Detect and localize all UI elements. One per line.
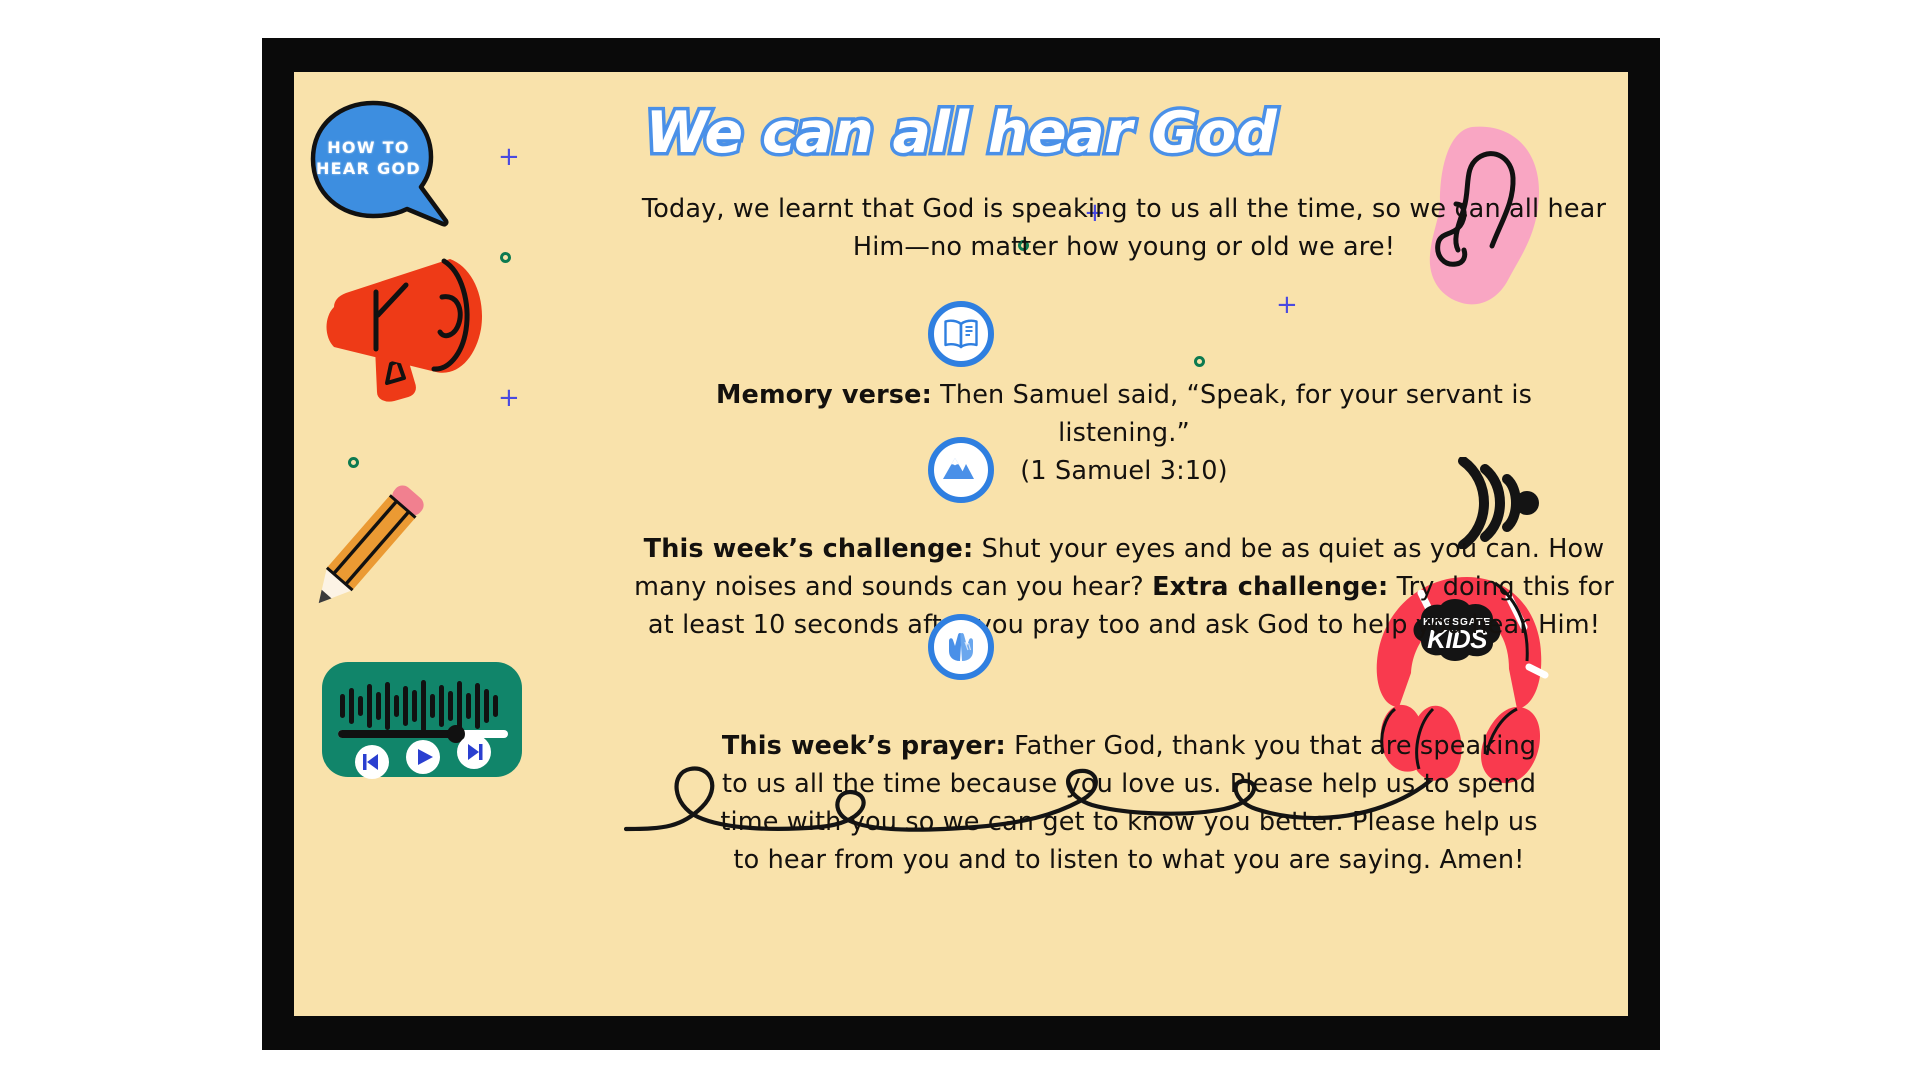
rewind-button[interactable] [355, 745, 389, 779]
forward-button[interactable] [457, 735, 491, 769]
dot-icon [1194, 356, 1205, 367]
memory-verse-paragraph: Memory verse: Then Samuel said, “Speak, … [674, 376, 1574, 490]
audio-player-illustration [314, 652, 534, 796]
challenge-label: This week’s challenge: [644, 534, 974, 564]
pencil-illustration [295, 472, 465, 646]
memory-verse-reference: (1 Samuel 3:10) [1020, 456, 1227, 486]
challenge-paragraph: This week’s challenge: Shut your eyes an… [629, 530, 1619, 644]
intro-paragraph: Today, we learnt that God is speaking to… [624, 190, 1624, 266]
how-to-hear-god-bubble: HOW TO HEAR GOD [303, 97, 453, 232]
poster-stage: We can all hear God HOW TO HEAR GOD Toda… [0, 0, 1920, 1080]
page-title: We can all hear God [294, 100, 1628, 166]
intro-text: Today, we learnt that God is speaking to… [642, 194, 1606, 262]
dot-icon [500, 252, 511, 263]
sparkle-icon: + [498, 385, 520, 411]
extra-challenge-label: Extra challenge: [1152, 572, 1388, 602]
megaphone-illustration [316, 237, 516, 411]
poster-canvas: We can all hear God HOW TO HEAR GOD Toda… [294, 72, 1628, 1016]
mountain-glyph [942, 455, 980, 485]
sparkle-icon: + [1276, 292, 1298, 318]
memory-verse-text: Then Samuel said, “Speak, for your serva… [932, 380, 1532, 448]
praying-hands-icon [928, 614, 994, 680]
dot-icon [348, 457, 359, 468]
prayer-label: This week’s prayer: [722, 731, 1006, 761]
speech-bubble-shape [303, 97, 453, 232]
memory-verse-label: Memory verse: [716, 380, 932, 410]
prayer-paragraph: This week’s prayer: Father God, thank yo… [719, 727, 1539, 879]
mountain-icon [928, 437, 994, 503]
praying-hands-glyph [944, 630, 978, 664]
open-book-icon [928, 301, 994, 367]
open-book-glyph [942, 318, 980, 350]
play-button[interactable] [406, 740, 440, 774]
